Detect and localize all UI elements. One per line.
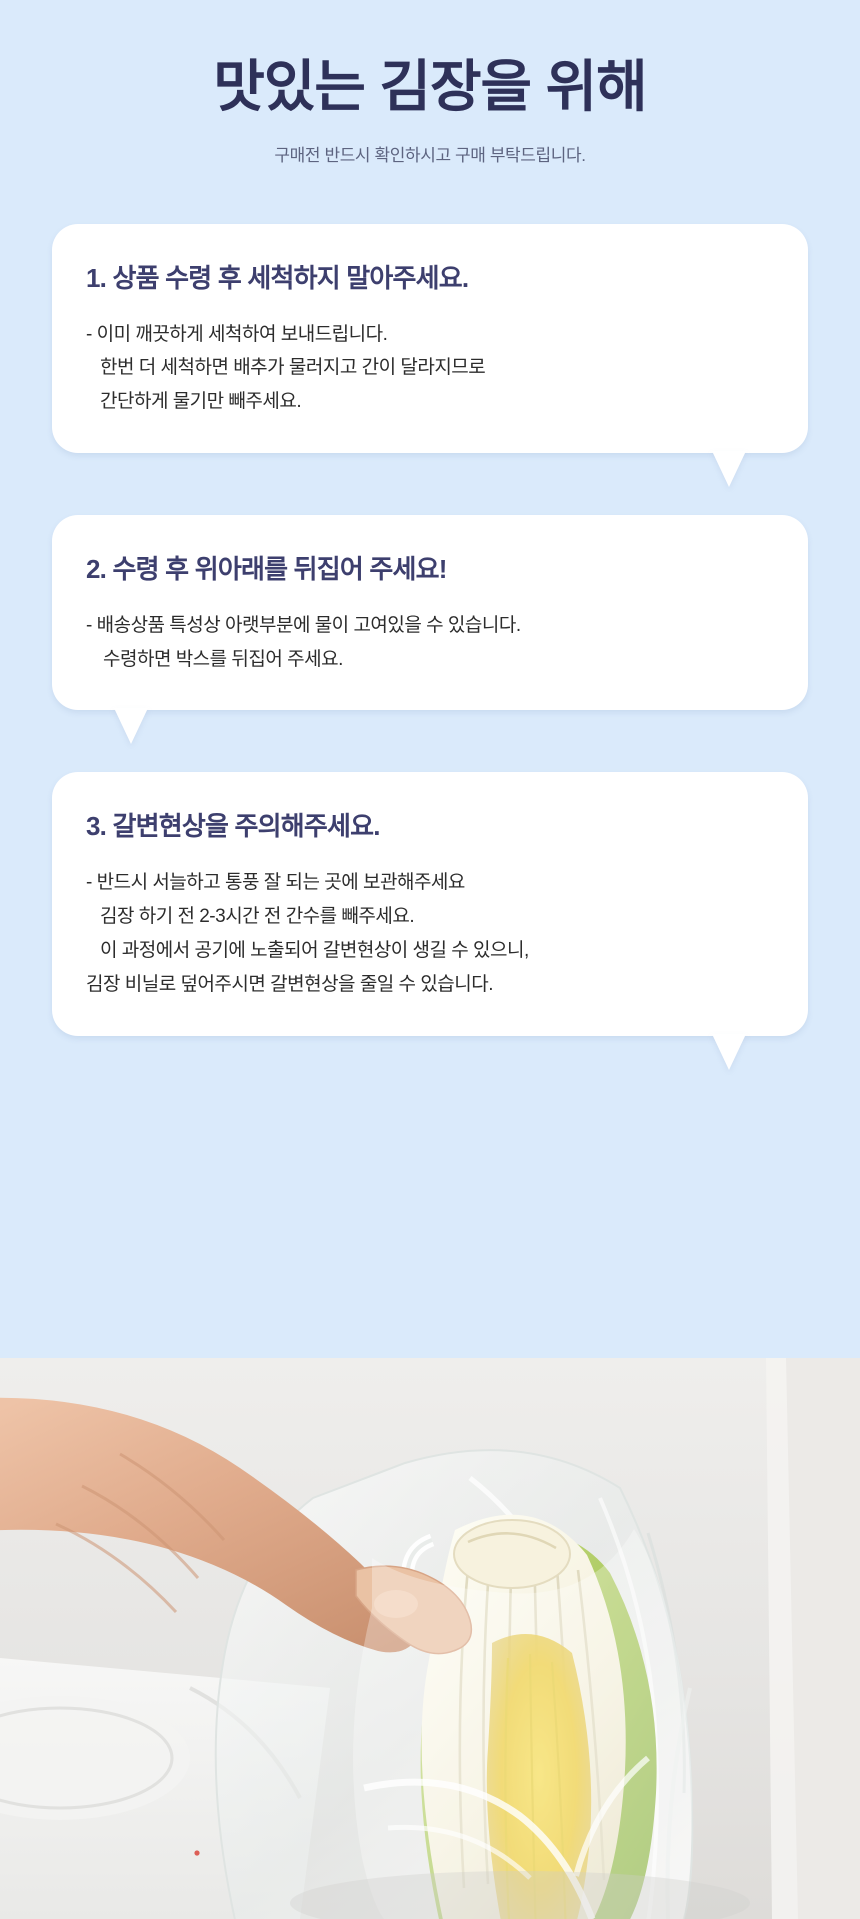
notice-card-1-wrapper: 1. 상품 수령 후 세척하지 말아주세요. - 이미 깨끗하게 세척하여 보내… [52, 224, 808, 453]
notice-card-3-line-3: 이 과정에서 공기에 노출되어 갈변현상이 생길 수 있으니, [86, 934, 774, 968]
notice-card-1-line-1: - 이미 깨끗하게 세척하여 보내드립니다. [86, 318, 774, 352]
notice-card-3-line-1: - 반드시 서늘하고 통풍 잘 되는 곳에 보관해주세요 [86, 866, 774, 900]
speech-bubble-tail-icon [712, 1034, 746, 1070]
notice-card-list: 1. 상품 수령 후 세척하지 말아주세요. - 이미 깨끗하게 세척하여 보내… [0, 224, 860, 1036]
notice-card-1-line-3: 간단하게 물기만 빼주세요. [86, 385, 774, 419]
speech-bubble-tail-icon [712, 451, 746, 487]
notice-card-2-body: - 배송상품 특성상 아랫부분에 물이 고여있을 수 있습니다. 수령하면 박스… [86, 609, 774, 677]
notice-card-2-title: 2. 수령 후 위아래를 뒤집어 주세요! [86, 553, 774, 587]
product-detail-page: 맛있는 김장을 위해 구매전 반드시 확인하시고 구매 부탁드립니다. 1. 상… [0, 0, 860, 1919]
notice-card-3-line-2: 김장 하기 전 2-3시간 전 간수를 빼주세요. [86, 900, 774, 934]
notice-card-1: 1. 상품 수령 후 세척하지 말아주세요. - 이미 깨끗하게 세척하여 보내… [52, 224, 808, 453]
notice-card-3-title: 3. 갈변현상을 주의해주세요. [86, 810, 774, 844]
product-photo-illustration [0, 1358, 860, 1919]
notice-card-2-line-2: 수령하면 박스를 뒤집어 주세요. [86, 643, 774, 677]
notice-card-1-title: 1. 상품 수령 후 세척하지 말아주세요. [86, 262, 774, 296]
page-title: 맛있는 김장을 위해 [0, 52, 860, 122]
notice-card-3-line-4: 김장 비닐로 덮어주시면 갈변현상을 줄일 수 있습니다. [86, 968, 774, 1002]
notice-card-2-line-1: - 배송상품 특성상 아랫부분에 물이 고여있을 수 있습니다. [86, 609, 774, 643]
page-header: 맛있는 김장을 위해 구매전 반드시 확인하시고 구매 부탁드립니다. [0, 52, 860, 168]
notice-card-3: 3. 갈변현상을 주의해주세요. - 반드시 서늘하고 통풍 잘 되는 곳에 보… [52, 772, 808, 1035]
page-subtitle: 구매전 반드시 확인하시고 구매 부탁드립니다. [0, 144, 860, 168]
notice-card-3-wrapper: 3. 갈변현상을 주의해주세요. - 반드시 서늘하고 통풍 잘 되는 곳에 보… [52, 772, 808, 1035]
notice-card-3-body: - 반드시 서늘하고 통풍 잘 되는 곳에 보관해주세요 김장 하기 전 2-3… [86, 866, 774, 1001]
notice-card-2-wrapper: 2. 수령 후 위아래를 뒤집어 주세요! - 배송상품 특성상 아랫부분에 물… [52, 515, 808, 710]
notice-card-1-body: - 이미 깨끗하게 세척하여 보내드립니다. 한번 더 세척하면 배추가 물러지… [86, 318, 774, 419]
product-photo [0, 1358, 860, 1919]
notice-section: 맛있는 김장을 위해 구매전 반드시 확인하시고 구매 부탁드립니다. 1. 상… [0, 0, 860, 1358]
notice-card-2: 2. 수령 후 위아래를 뒤집어 주세요! - 배송상품 특성상 아랫부분에 물… [52, 515, 808, 710]
speech-bubble-tail-icon [114, 708, 148, 744]
notice-card-1-line-2: 한번 더 세척하면 배추가 물러지고 간이 달라지므로 [86, 351, 774, 385]
